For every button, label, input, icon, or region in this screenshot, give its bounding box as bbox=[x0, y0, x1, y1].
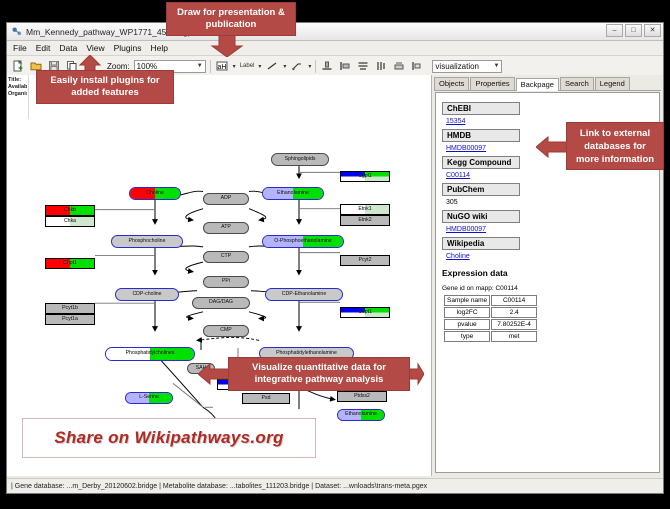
maximize-button[interactable]: □ bbox=[625, 24, 642, 37]
arrow-tool-icon[interactable] bbox=[290, 59, 304, 73]
menu-item-data[interactable]: Data bbox=[59, 43, 77, 53]
table-row: Sample nameC00114 bbox=[444, 295, 537, 306]
node-label: Sphingolipids bbox=[285, 157, 316, 162]
pathway-node-chkb[interactable]: Chkb bbox=[45, 205, 95, 216]
table-cell-key: log2FC bbox=[444, 307, 490, 318]
node-label: CMP bbox=[220, 328, 232, 333]
align-left-icon[interactable] bbox=[338, 59, 352, 73]
pathway-node-chka[interactable]: Chka bbox=[45, 216, 95, 227]
pathway-node-etnk2[interactable]: Etnk2 bbox=[340, 215, 390, 226]
pathway-node-ethanolamine_r[interactable]: Ethanolamine bbox=[337, 409, 385, 421]
callout-arrow-down bbox=[206, 35, 248, 57]
table-cell-key: pvalue bbox=[444, 319, 490, 330]
side-panel-tabs: Objects Properties Backpage Search Legen… bbox=[434, 77, 661, 91]
node-label: Pcyt1b bbox=[62, 306, 78, 311]
node-label: DAG/DAG bbox=[209, 300, 233, 305]
text-label-icon[interactable]: aH bbox=[215, 59, 229, 73]
menu-item-edit[interactable]: Edit bbox=[36, 43, 51, 53]
tab-objects[interactable]: Objects bbox=[434, 77, 469, 90]
pathway-node-etnk1[interactable]: Etnk1 bbox=[340, 204, 390, 215]
callout-external-links: Link to external databases for more info… bbox=[566, 122, 664, 170]
backpage-value-pubchem: 305 bbox=[446, 199, 653, 206]
expression-data-heading: Expression data bbox=[442, 268, 653, 278]
pathway-node-ctp[interactable]: CTP bbox=[203, 251, 249, 263]
node-label: Cept1 bbox=[358, 310, 372, 315]
table-cell-key: Sample name bbox=[444, 295, 490, 306]
tab-search[interactable]: Search bbox=[560, 77, 594, 90]
statusbar: | Gene database: ...m_Derby_20120602.bri… bbox=[7, 478, 663, 493]
table-cell-value: 2.4 bbox=[491, 307, 537, 318]
node-label: Etnk1 bbox=[358, 207, 371, 212]
toolbar-separator-2 bbox=[315, 60, 316, 73]
node-label: Chpt1 bbox=[63, 261, 77, 266]
chevron-down-icon: ▼ bbox=[197, 63, 203, 69]
pathway-canvas[interactable]: Title: Availab Organis bbox=[7, 75, 432, 476]
pathway-node-adp[interactable]: ADP bbox=[203, 193, 249, 205]
backpage-header-nugo-wiki: NuGO wiki bbox=[442, 210, 520, 223]
node-label: ADP bbox=[221, 196, 232, 201]
pathway-node-cdp_choline[interactable]: CDP-choline bbox=[115, 288, 179, 301]
minimize-button[interactable]: – bbox=[606, 24, 623, 37]
backpage-link-wikipedia[interactable]: Choline bbox=[446, 253, 653, 260]
node-label: Chkb bbox=[64, 208, 76, 213]
backpage-header-kegg-compound: Kegg Compound bbox=[442, 156, 520, 169]
pathway-node-ethanolamine[interactable]: Ethanolamine bbox=[262, 187, 324, 200]
gene-id-on-mapp: Gene id on mapp: C00114 bbox=[442, 285, 653, 292]
stack-icon[interactable] bbox=[392, 59, 406, 73]
backpage-header-chebi: ChEBI bbox=[442, 102, 520, 115]
statusbar-text: | Gene database: ...m_Derby_20120602.bri… bbox=[11, 483, 427, 490]
pathway-node-pcyt1a[interactable]: Pcyt1a bbox=[45, 314, 95, 325]
pathway-node-ophosphoethanolamine[interactable]: O-Phosphoethanolamine bbox=[262, 235, 344, 248]
table-row: typemet bbox=[444, 331, 537, 342]
pathway-node-pcyt2[interactable]: Pcyt2 bbox=[340, 255, 390, 266]
table-cell-key: type bbox=[444, 331, 490, 342]
pathway-node-cmp[interactable]: CMP bbox=[203, 325, 249, 337]
node-label: Etnk2 bbox=[358, 218, 371, 223]
callout-visualize-data: Visualize quantitative data for integrat… bbox=[228, 357, 410, 391]
toolbar-separator bbox=[210, 60, 211, 73]
svg-text:aH: aH bbox=[217, 64, 226, 71]
pathway-node-dagdag[interactable]: DAG/DAG bbox=[192, 297, 250, 309]
menubar: File Edit Data View Plugins Help bbox=[7, 41, 663, 56]
pathway-node-ptdss2[interactable]: Ptdss2 bbox=[337, 391, 387, 402]
pathway-node-sgpl1[interactable]: Sgpl1 bbox=[340, 171, 390, 182]
table-cell-value: C00114 bbox=[491, 295, 537, 306]
pathway-node-cdp_ethanolamine[interactable]: CDP-Ethanolamine bbox=[265, 288, 343, 301]
callout-install-plugins: Easily install plugins for added feature… bbox=[36, 70, 174, 104]
line-tool-icon[interactable] bbox=[265, 59, 279, 73]
node-label: L-Serine bbox=[139, 395, 159, 400]
node-label: Chka bbox=[64, 219, 76, 224]
tab-legend[interactable]: Legend bbox=[595, 77, 630, 90]
pathway-node-lserine_l[interactable]: L-Serine bbox=[125, 392, 173, 404]
app-icon bbox=[11, 26, 22, 37]
pathway-node-psd[interactable]: Psd bbox=[242, 393, 290, 404]
pathway-node-sphingolipids[interactable]: Sphingolipids bbox=[271, 153, 329, 166]
table-row: log2FC2.4 bbox=[444, 307, 537, 318]
callout-arrow-left-2 bbox=[198, 362, 232, 386]
screenshot-root: Mm_Kennedy_pathway_WP1771_45176.gpml – □… bbox=[0, 0, 670, 509]
backpage-link-nugo-wiki[interactable]: HMDB00097 bbox=[446, 226, 653, 233]
pathway-node-phosphocholine[interactable]: Phosphocholine bbox=[111, 235, 183, 248]
pathway-node-ppi[interactable]: PPi bbox=[203, 276, 249, 288]
node-label: CTP bbox=[221, 254, 231, 259]
visualization-value: visualization bbox=[435, 62, 479, 71]
node-label: Phosphocholine bbox=[129, 239, 166, 244]
pathway-node-choline_top[interactable]: Choline bbox=[129, 187, 181, 200]
expression-table: Sample nameC00114log2FC2.4pvalue7.80252E… bbox=[443, 294, 538, 343]
backpage-header-pubchem: PubChem bbox=[442, 183, 520, 196]
pathway-node-pcyt1b[interactable]: Pcyt1b bbox=[45, 303, 95, 314]
label-dropdown-caret[interactable]: ▾ bbox=[233, 63, 236, 70]
node-label: Sgpl1 bbox=[358, 174, 371, 179]
callout-arrow-left bbox=[536, 135, 570, 159]
window-controls: – □ ✕ bbox=[606, 24, 661, 37]
node-label: PPi bbox=[222, 279, 230, 284]
line-caret-icon[interactable]: ▾ bbox=[283, 63, 286, 70]
node-label: Ethanolamine bbox=[277, 191, 309, 196]
node-label: Phosphatidylcholines bbox=[126, 351, 175, 356]
distribute-vertical-icon[interactable] bbox=[356, 59, 370, 73]
node-label: Choline bbox=[146, 191, 164, 196]
backpage-header-wikipedia: Wikipedia bbox=[442, 237, 520, 250]
node-label: Ptdss2 bbox=[354, 394, 370, 399]
node-label: Pcyt1a bbox=[62, 317, 78, 322]
backpage-link-kegg-compound[interactable]: C00114 bbox=[446, 172, 653, 179]
callout-draw-presentation: Draw for presentation & publication bbox=[166, 2, 296, 36]
align-bottom-icon[interactable] bbox=[320, 59, 334, 73]
node-label: CDP-choline bbox=[132, 292, 161, 297]
pathway-node-cept1[interactable]: Cept1 bbox=[340, 307, 390, 318]
menu-item-plugins[interactable]: Plugins bbox=[114, 43, 142, 53]
backpage-header-hmdb: HMDB bbox=[442, 129, 520, 142]
arrow-caret-icon[interactable]: ▾ bbox=[308, 63, 311, 70]
pathway-node-chpt1[interactable]: Chpt1 bbox=[45, 258, 95, 269]
pathway-node-atp[interactable]: ATP bbox=[203, 222, 249, 234]
close-button[interactable]: ✕ bbox=[644, 24, 661, 37]
menu-item-help[interactable]: Help bbox=[151, 43, 168, 53]
distribute-horizontal-icon[interactable] bbox=[374, 59, 388, 73]
table-cell-value: met bbox=[491, 331, 537, 342]
node-label: Psd bbox=[262, 396, 271, 401]
bring-front-icon[interactable] bbox=[410, 59, 424, 73]
node-label: ATP bbox=[221, 225, 231, 230]
tab-properties[interactable]: Properties bbox=[470, 77, 514, 90]
tab-backpage[interactable]: Backpage bbox=[516, 78, 559, 91]
visualization-combo[interactable]: visualization ▼ bbox=[432, 60, 502, 73]
node-label: O-Phosphoethanolamine bbox=[274, 239, 331, 244]
table-row: pvalue7.80252E-4 bbox=[444, 319, 537, 330]
new-file-icon[interactable] bbox=[11, 59, 25, 73]
menu-item-file[interactable]: File bbox=[13, 43, 27, 53]
node-label: Ethanolamine bbox=[345, 412, 377, 417]
window-titlebar: Mm_Kennedy_pathway_WP1771_45176.gpml – □… bbox=[7, 23, 663, 41]
pathway-node-phosphatidylcholines[interactable]: Phosphatidylcholines bbox=[105, 347, 195, 361]
node-label: Pcyt2 bbox=[359, 258, 372, 263]
menu-item-view[interactable]: View bbox=[86, 43, 104, 53]
label-text[interactable]: Label bbox=[240, 63, 255, 69]
callout-share-wikipathways: Share on Wikipathways.org bbox=[22, 418, 316, 458]
pathway-diagram[interactable]: SphingolipidsCholineEthanolaminePhosphoc… bbox=[7, 75, 431, 476]
chevron-down-icon-2: ▼ bbox=[493, 63, 499, 69]
table-cell-value: 7.80252E-4 bbox=[491, 319, 537, 330]
node-label: CDP-Ethanolamine bbox=[282, 292, 326, 297]
node-label: Phosphatidylethanolamine bbox=[276, 351, 337, 356]
share-text: Share on Wikipathways.org bbox=[54, 428, 283, 448]
label-caret-icon[interactable]: ▾ bbox=[258, 63, 261, 70]
